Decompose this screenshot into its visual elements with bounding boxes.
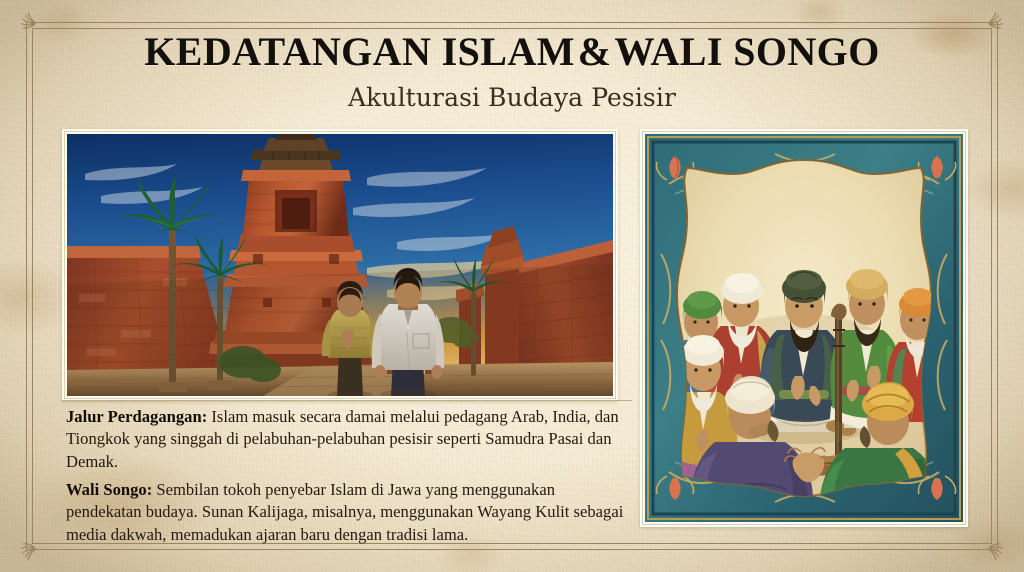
paragraph-label: Jalur Perdagangan (66, 407, 202, 426)
slide-subtitle: Akulturasi Budaya Pesisir (0, 84, 1024, 112)
slide-title-tail: WALI SONGO (615, 29, 880, 74)
photo-artwork-left (67, 134, 613, 396)
text-divider-rule (62, 400, 632, 401)
slide-title: KEDATANGAN ISLAM&WALI SONGO (0, 32, 1024, 72)
menara-kudus-gate-illustration (62, 129, 618, 401)
corner-ornament-bottom-right (976, 528, 1010, 562)
paragraph-wali-songo: Wali Songo: Sembilan tokoh penyebar Isla… (66, 479, 632, 546)
wali-songo-council-illustration (640, 129, 968, 527)
slide-title-main: KEDATANGAN ISLAM (144, 29, 575, 74)
paragraph-label: Wali Songo (66, 480, 147, 499)
photo-artwork-right (645, 134, 963, 522)
slide-title-ampersand: & (575, 29, 615, 74)
body-text-block: Jalur Perdagangan: Islam masuk secara da… (66, 406, 632, 546)
corner-ornament-bottom-left (14, 528, 48, 562)
slide-canvas: KEDATANGAN ISLAM&WALI SONGO Akulturasi B… (0, 0, 1024, 572)
paragraph-jalur-perdagangan: Jalur Perdagangan: Islam masuk secara da… (66, 406, 632, 473)
